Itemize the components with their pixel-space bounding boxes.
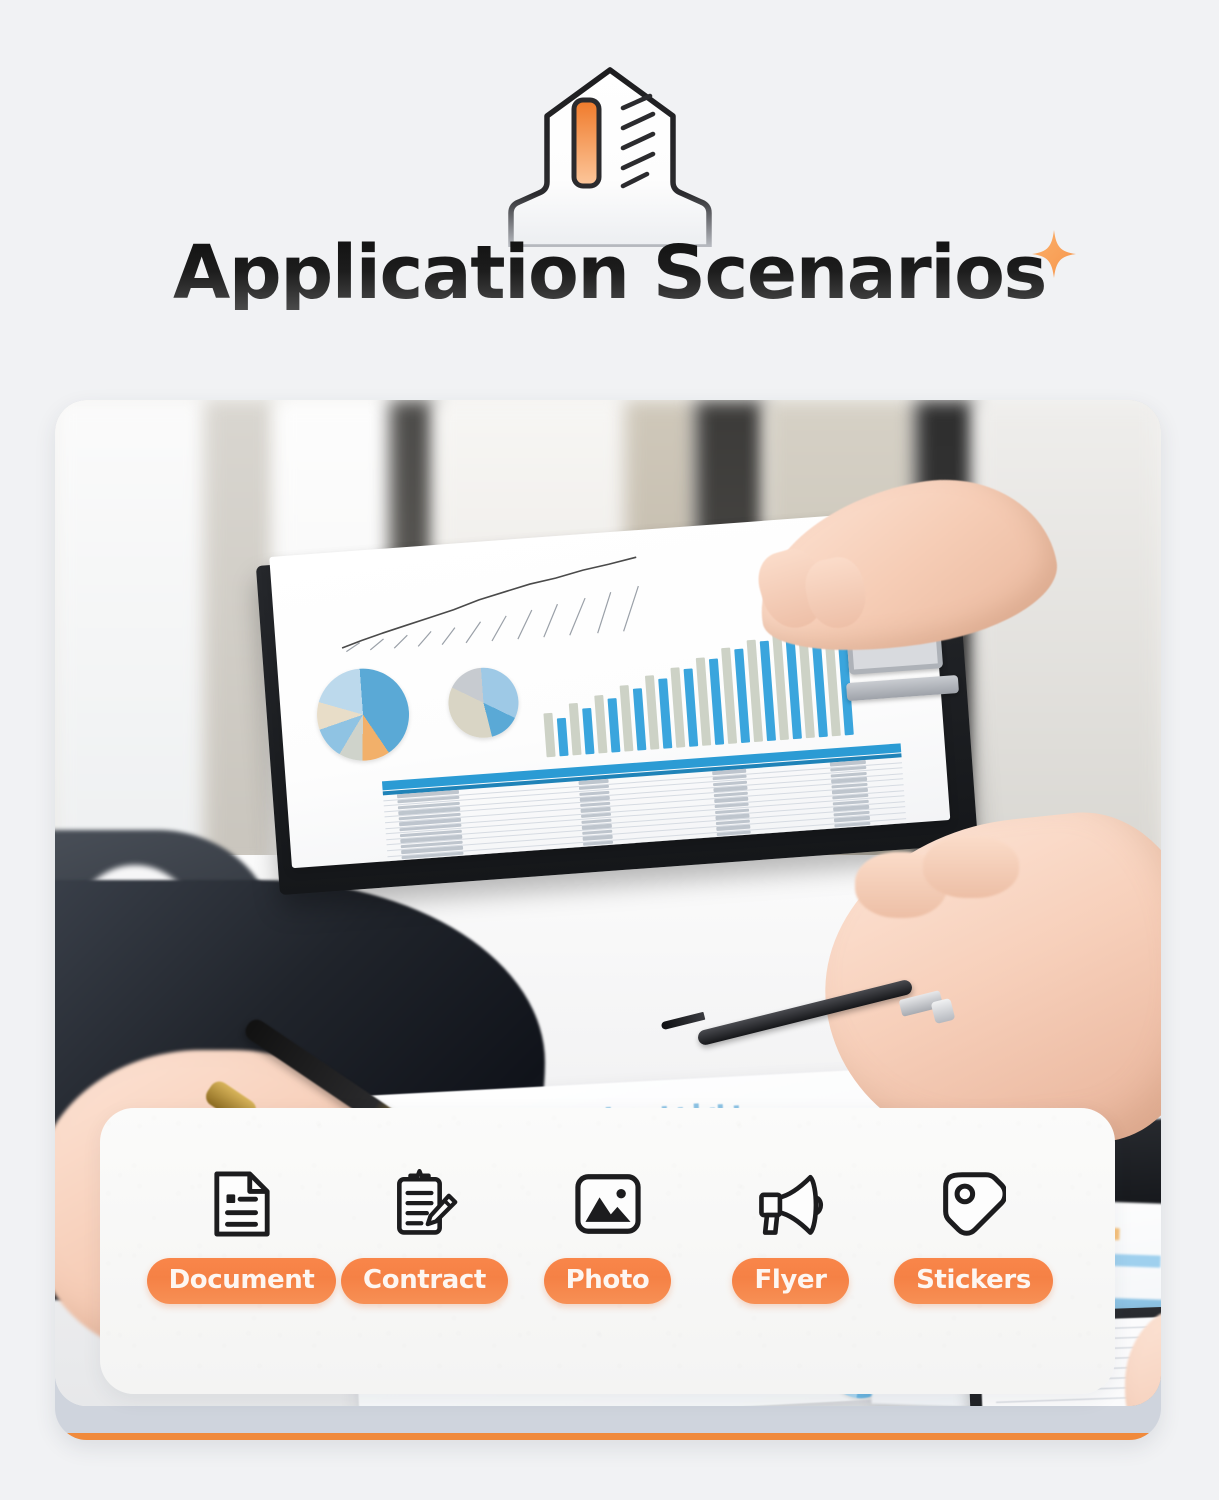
- sparkle-icon: [1030, 228, 1078, 280]
- page-title: Application Scenarios: [173, 236, 1046, 310]
- category-row: Document Contract: [100, 1156, 1115, 1346]
- category-label-flyer[interactable]: Flyer: [732, 1258, 848, 1304]
- category-label-photo[interactable]: Photo: [544, 1258, 672, 1304]
- building-scanner-icon: [495, 62, 725, 247]
- clipboard-pen-icon: [392, 1156, 458, 1252]
- bg-pillar: [975, 400, 1161, 870]
- category-item-document[interactable]: Document: [150, 1156, 333, 1304]
- page-header: Application Scenarios: [0, 0, 1219, 390]
- image-icon: [573, 1156, 643, 1252]
- category-item-stickers[interactable]: Stickers: [882, 1156, 1065, 1304]
- category-item-flyer[interactable]: Flyer: [699, 1156, 882, 1304]
- knuckle: [923, 836, 1019, 898]
- pie-chart-left: [314, 665, 412, 763]
- document-icon: [211, 1156, 273, 1252]
- category-label-document[interactable]: Document: [147, 1258, 337, 1304]
- price-tag-icon: [942, 1156, 1006, 1252]
- pie-chart-right: [446, 665, 521, 740]
- application-categories-card: Document Contract: [100, 1108, 1115, 1394]
- bg-pillar: [55, 400, 205, 870]
- megaphone-icon: [755, 1156, 827, 1252]
- category-label-stickers[interactable]: Stickers: [894, 1258, 1053, 1304]
- category-item-contract[interactable]: Contract: [333, 1156, 516, 1304]
- category-item-photo[interactable]: Photo: [516, 1156, 699, 1304]
- category-label-contract[interactable]: Contract: [341, 1258, 508, 1304]
